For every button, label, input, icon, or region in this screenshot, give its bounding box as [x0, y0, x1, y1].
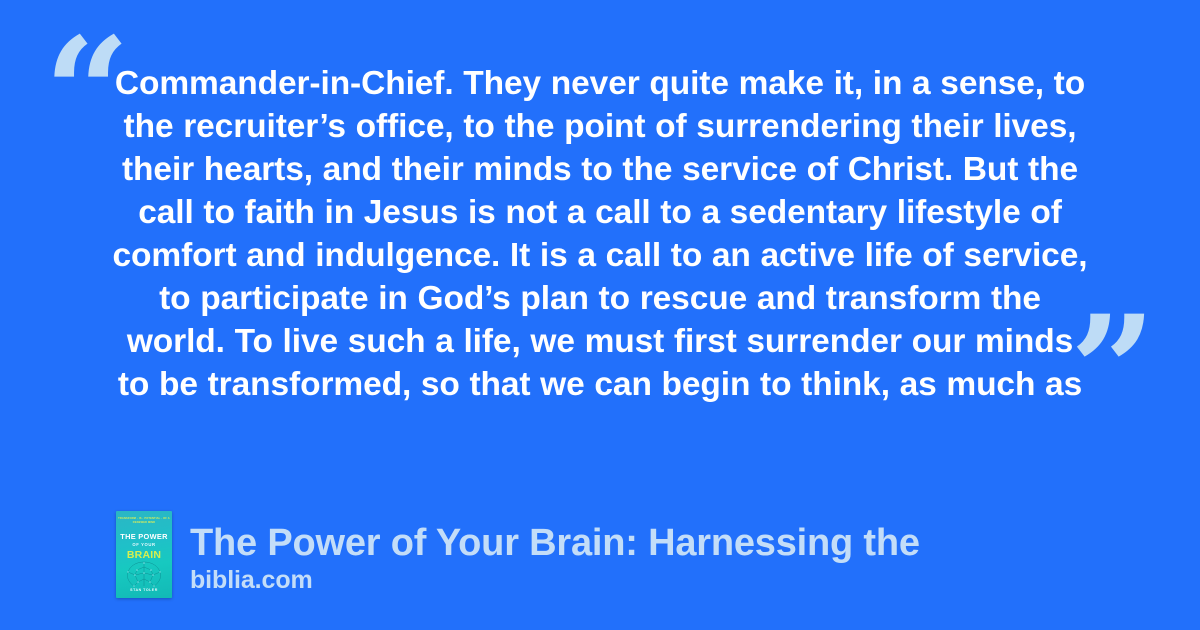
book-cover-tagline: TRANSFORM · IS · POTENTIAL · OF A RENEWE…	[116, 517, 172, 525]
source-site-label[interactable]: biblia.com	[190, 565, 920, 596]
book-cover-title-line-1: THE POWER	[116, 532, 172, 541]
closing-quote-icon: ”	[1070, 296, 1156, 446]
attribution-footer: TRANSFORM · IS · POTENTIAL · OF A RENEWE…	[116, 511, 920, 598]
quote-text: Commander-in-Chief. They never quite mak…	[112, 62, 1088, 406]
quote-card: “ Commander-in-Chief. They never quite m…	[0, 0, 1200, 630]
book-cover-title-line-3: BRAIN	[116, 549, 172, 561]
book-title[interactable]: The Power of Your Brain: Harnessing the	[190, 521, 920, 565]
quote-body: Commander-in-Chief. They never quite mak…	[0, 62, 1200, 406]
book-cover-title-line-2: OF YOUR	[116, 542, 172, 547]
brain-illustration-icon	[122, 561, 166, 587]
book-cover-author: STAN TOLER	[116, 588, 172, 592]
footer-text-block: The Power of Your Brain: Harnessing the …	[190, 521, 920, 598]
book-cover-thumbnail[interactable]: TRANSFORM · IS · POTENTIAL · OF A RENEWE…	[116, 511, 172, 598]
